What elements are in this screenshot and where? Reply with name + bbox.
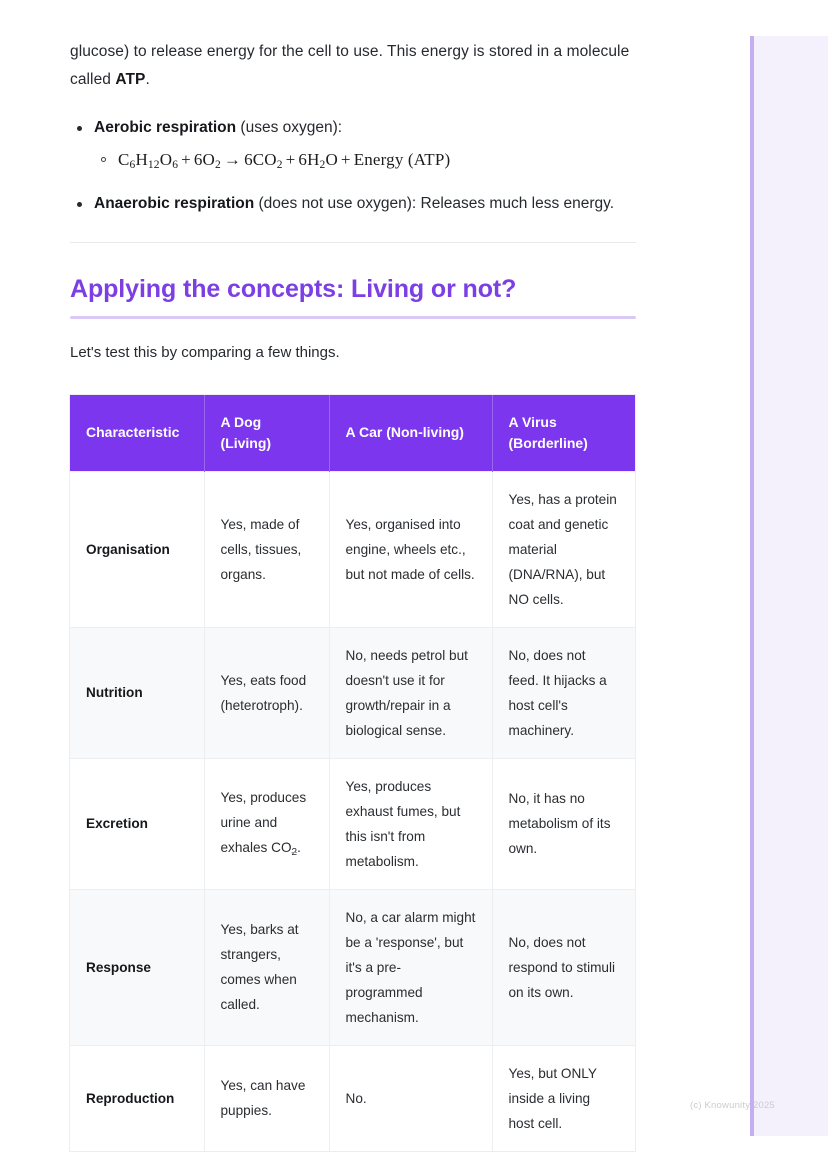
equation-plus-3: +	[338, 150, 354, 169]
intro-paragraph: glucose) to release energy for the cell …	[70, 38, 636, 94]
cell-excretion-dog-text: Yes, produces urine and exhales CO	[221, 790, 307, 855]
scroll-rail-background	[750, 36, 828, 1136]
table-row: Excretion Yes, produces urine and exhale…	[70, 758, 635, 889]
cell-organisation-car: Yes, organised into engine, wheels etc.,…	[329, 471, 492, 627]
column-header-characteristic-line1: Characteristic	[86, 424, 179, 440]
equation-water: 6H2O	[298, 150, 338, 169]
cell-excretion-dog-subscript: 2	[292, 847, 298, 858]
cell-reproduction-virus: Yes, but ONLY inside a living host cell.	[492, 1045, 635, 1151]
cell-response-car: No, a car alarm might be a 'response', b…	[329, 889, 492, 1045]
section-lead-text: Let's test this by comparing a few thing…	[70, 341, 700, 365]
cell-organisation-dog: Yes, made of cells, tissues, organs.	[204, 471, 329, 627]
list-item-aerobic: Aerobic respiration (uses oxygen): C6H12…	[70, 114, 700, 176]
row-header-nutrition: Nutrition	[70, 627, 204, 758]
intro-paragraph-text-pre: glucose) to release energy for the cell …	[70, 43, 629, 88]
aerobic-respiration-equation: C6H12O6+6O2→6CO2+6H2O+Energy (ATP)	[118, 150, 450, 169]
section-divider	[70, 242, 636, 243]
intro-paragraph-text-post: .	[145, 71, 149, 88]
column-header-car-line1: A Car (Non-living)	[346, 424, 464, 440]
cell-reproduction-car: No.	[329, 1045, 492, 1151]
equation-glucose: C6H12O6	[118, 150, 178, 169]
aerobic-respiration-label: Aerobic respiration	[94, 119, 236, 136]
equation-arrow-icon: →	[221, 150, 244, 169]
table-row: Response Yes, barks at strangers, comes …	[70, 889, 635, 1045]
atp-bold-term: ATP	[115, 71, 145, 88]
vertical-scrollbar-thumb[interactable]	[750, 36, 754, 1136]
column-header-dog-line2: (Living)	[221, 433, 313, 454]
cell-nutrition-virus: No, does not feed. It hijacks a host cel…	[492, 627, 635, 758]
cell-response-dog: Yes, barks at strangers, comes when call…	[204, 889, 329, 1045]
table-row: Nutrition Yes, eats food (heterotroph). …	[70, 627, 635, 758]
cell-excretion-car: Yes, produces exhaust fumes, but this is…	[329, 758, 492, 889]
equation-plus-2: +	[283, 150, 299, 169]
living-or-not-comparison-table: Characteristic A Dog (Living) A Car (Non…	[70, 395, 635, 1151]
equation-carbon-dioxide: 6CO2	[244, 150, 283, 169]
column-header-characteristic[interactable]: Characteristic	[70, 395, 204, 472]
cell-organisation-virus: Yes, has a protein coat and genetic mate…	[492, 471, 635, 627]
column-header-dog-line1: A Dog	[221, 414, 262, 430]
respiration-bullet-list: Aerobic respiration (uses oxygen): C6H12…	[70, 114, 700, 218]
equation-oxygen: 6O2	[194, 150, 221, 169]
cell-reproduction-dog: Yes, can have puppies.	[204, 1045, 329, 1151]
cell-excretion-dog-period: .	[297, 840, 301, 855]
list-item-anaerobic: Anaerobic respiration (does not use oxyg…	[70, 190, 700, 218]
cell-nutrition-dog: Yes, eats food (heterotroph).	[204, 627, 329, 758]
copyright-watermark: (c) Knowunity 2025	[690, 1100, 775, 1111]
aerobic-respiration-note: (uses oxygen):	[236, 119, 342, 136]
cell-excretion-dog: Yes, produces urine and exhales CO2.	[204, 758, 329, 889]
cell-nutrition-car: No, needs petrol but doesn't use it for …	[329, 627, 492, 758]
cell-excretion-virus: No, it has no metabolism of its own.	[492, 758, 635, 889]
table-row: Organisation Yes, made of cells, tissues…	[70, 471, 635, 627]
column-header-dog[interactable]: A Dog (Living)	[204, 395, 329, 472]
column-header-car[interactable]: A Car (Non-living)	[329, 395, 492, 472]
title-underline	[70, 316, 636, 319]
cell-response-virus: No, does not respond to stimuli on its o…	[492, 889, 635, 1045]
list-item-equation: C6H12O6+6O2→6CO2+6H2O+Energy (ATP)	[94, 146, 700, 176]
row-header-excretion: Excretion	[70, 758, 204, 889]
equation-energy: Energy (ATP)	[354, 150, 451, 169]
row-header-response: Response	[70, 889, 204, 1045]
table-row: Reproduction Yes, can have puppies. No. …	[70, 1045, 635, 1151]
column-header-virus[interactable]: A Virus (Borderline)	[492, 395, 635, 472]
equation-plus-1: +	[178, 150, 194, 169]
row-header-organisation: Organisation	[70, 471, 204, 627]
aerobic-equation-sublist: C6H12O6+6O2→6CO2+6H2O+Energy (ATP)	[94, 146, 700, 176]
row-header-reproduction: Reproduction	[70, 1045, 204, 1151]
table-body: Organisation Yes, made of cells, tissues…	[70, 471, 635, 1151]
table-header: Characteristic A Dog (Living) A Car (Non…	[70, 395, 635, 472]
table-header-row: Characteristic A Dog (Living) A Car (Non…	[70, 395, 635, 472]
column-header-virus-line1: A Virus	[509, 414, 557, 430]
anaerobic-respiration-label: Anaerobic respiration	[94, 195, 254, 212]
page-title: Applying the concepts: Living or not?	[70, 275, 700, 304]
anaerobic-respiration-note: (does not use oxygen): Releases much les…	[254, 195, 614, 212]
column-header-virus-line2: (Borderline)	[509, 433, 620, 454]
document-content: glucose) to release energy for the cell …	[0, 0, 700, 1151]
